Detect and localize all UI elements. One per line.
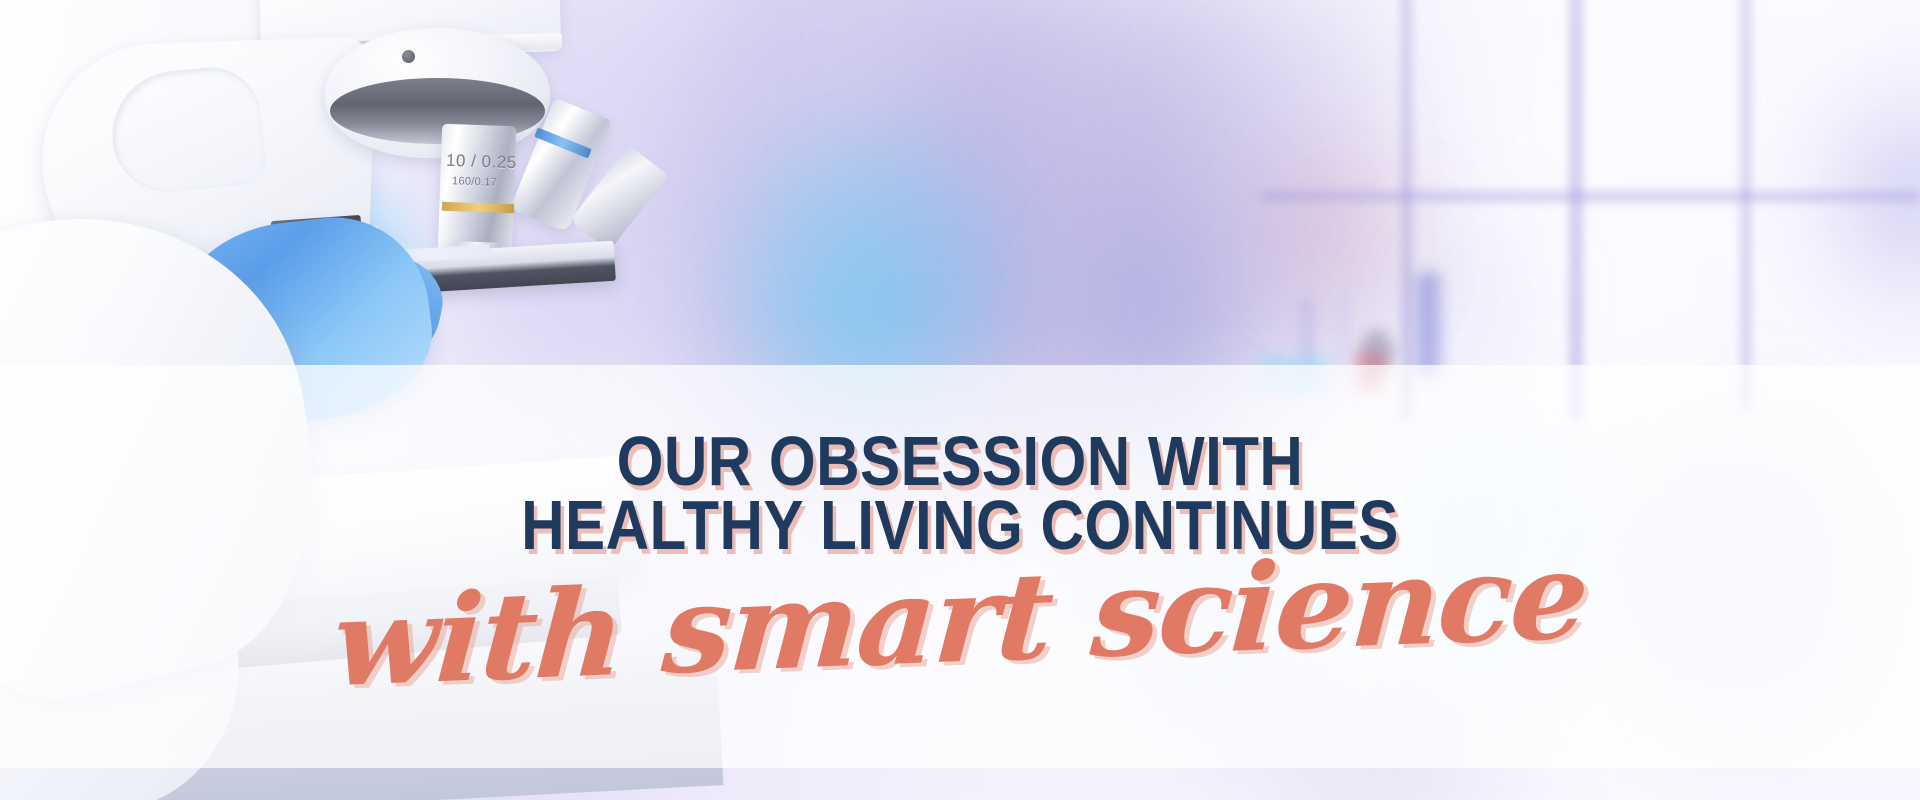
- objective-tube-label: 160/0.17: [452, 175, 498, 189]
- lab-bottle: [1336, 290, 1348, 372]
- hero-banner: 10 / 0.25 160/0.17 OUR OBSESSION WITH HE…: [0, 0, 1920, 800]
- background-blur-blob: [1340, 230, 1388, 290]
- background-blur-blob: [1630, 430, 1840, 730]
- window-mullion: [1402, 0, 1411, 420]
- window-mullion: [1570, 0, 1582, 420]
- background-blur-blob: [1450, 240, 1490, 370]
- lab-bottle: [1355, 352, 1385, 392]
- lab-bottle: [1415, 272, 1441, 377]
- background-blur-blob: [1390, 420, 1590, 680]
- lab-bottle: [1260, 355, 1330, 395]
- microscope-objective-main: [438, 124, 516, 257]
- lab-photo-background: 10 / 0.25 160/0.17: [0, 0, 1920, 800]
- window-mullion: [1742, 0, 1750, 410]
- background-blur-blob: [790, 210, 940, 410]
- objective-magnification-label: 10 / 0.25: [446, 151, 517, 173]
- window-mullion: [1260, 192, 1920, 201]
- microscope-turret-screw: [402, 50, 415, 63]
- background-blur-blob: [1090, 200, 1230, 450]
- background-blur-blob: [1120, 430, 1300, 760]
